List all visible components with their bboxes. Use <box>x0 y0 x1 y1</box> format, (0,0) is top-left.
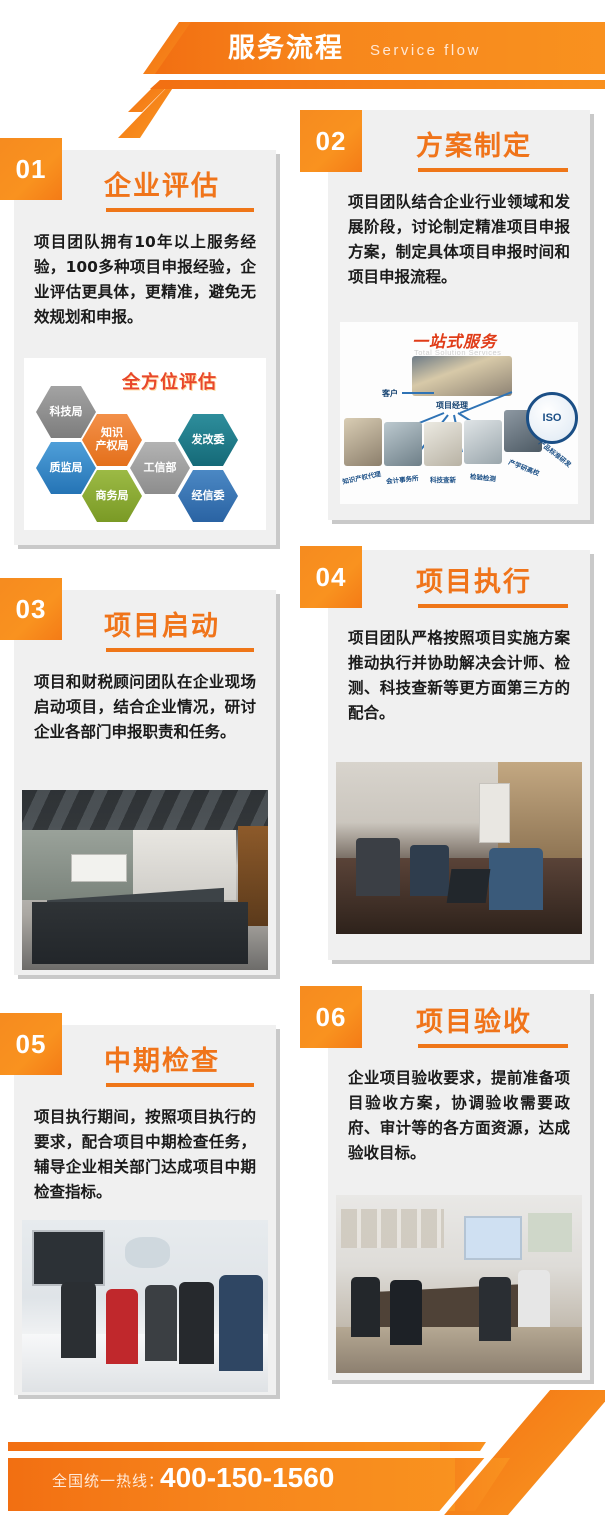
flow-card-01: 01 企业评估 项目团队拥有10年以上服务经验，100多种项目申报经验，企业评估… <box>14 150 276 545</box>
hexagon-gongxinbu: 工信部 <box>130 442 190 494</box>
infographic-title: 全方位评估 <box>122 368 217 394</box>
diagram-label-university: 产学研高校 <box>507 456 541 477</box>
card-title-03: 项目启动 <box>104 604 220 643</box>
hexagon-label: 科技局 <box>50 406 83 419</box>
diagram-photo-accounting <box>384 422 422 466</box>
footer-thin-line <box>8 1442 448 1451</box>
title-underline-06 <box>418 1044 568 1048</box>
card-body-05: 项目执行期间，按照项目执行的要求，配合项目中期检查任务，辅导企业相关部门达成项目… <box>34 1105 256 1205</box>
diagram-arrow-1 <box>402 392 434 394</box>
diagram-photo-testing <box>464 420 502 464</box>
flow-card-05: 05 中期检查 项目执行期间，按照项目执行的要求，配合项目中期检查任务，辅导企业… <box>14 1025 276 1395</box>
hexagon-jingxinwei: 经信委 <box>178 470 238 522</box>
onestop-service-diagram: 一站式服务 Total Solution Services 客户 项目经理 IS… <box>340 322 578 504</box>
hexagon-label: 商务局 <box>96 490 129 503</box>
flow-card-06: 06 项目验收 企业项目验收要求，提前准备项目验收方案，协调验收需要政府、审计等… <box>328 990 590 1380</box>
hotline-label: 全国统一热线： <box>52 1470 164 1491</box>
header-underline <box>150 80 605 89</box>
step-number-badge-06: 06 <box>300 986 362 1048</box>
flow-card-04: 04 项目执行 项目团队严格按照项目实施方案推动执行并协助解决会计师、检测、科技… <box>328 550 590 960</box>
diagram-photo-ip <box>344 418 382 466</box>
title-underline-04 <box>418 604 568 608</box>
diagram-label-testing: 检验检测 <box>470 471 497 484</box>
step-number-badge-05: 05 <box>0 1013 62 1075</box>
diagram-label-search: 科技查新 <box>430 474 456 484</box>
diagram-photo-search <box>424 422 462 466</box>
hexagon-infographic: 全方位评估 科技局 知识 产权局 质监局 商务局 工信部 发改委 经信委 <box>24 358 266 530</box>
hexagon-zhijianju: 质监局 <box>36 442 96 494</box>
page-title: 服务流程 <box>228 30 344 66</box>
diagram-label-ip: 知识产权代理 <box>341 468 381 486</box>
flow-card-03: 03 项目启动 项目和财税顾问团队在企业现场启动项目，结合企业情况，研讨企业各部… <box>14 590 276 975</box>
hotline-phone[interactable]: 400-150-1560 <box>160 1462 334 1494</box>
hexagon-shangwuju: 商务局 <box>82 470 142 522</box>
card-body-03: 项目和财税顾问团队在企业现场启动项目，结合企业情况，研讨企业各部门申报职责和任务… <box>34 670 256 745</box>
hexagon-label: 工信部 <box>144 462 177 475</box>
diagram-label-accounting: 会计事务所 <box>386 472 419 485</box>
diagram-meeting-photo <box>412 356 512 396</box>
page-subtitle: Service flow <box>370 39 481 63</box>
card-photo-04 <box>336 762 582 934</box>
card-photo-05 <box>22 1220 268 1392</box>
hexagon-fagaiwei: 发改委 <box>178 414 238 466</box>
diagram-node-customer: 客户 <box>382 388 398 399</box>
card-body-04: 项目团队严格按照项目实施方案推动执行并协助解决会计师、检测、科技查新等更方面第三… <box>348 626 570 726</box>
card-body-02: 项目团队结合企业行业领域和发展阶段，讨论制定精准项目申报方案，制定具体项目申报时… <box>348 190 570 290</box>
card-title-04: 项目执行 <box>416 560 532 599</box>
card-title-05: 中期检查 <box>104 1039 220 1078</box>
step-number-badge-04: 04 <box>300 546 362 608</box>
hexagon-label: 经信委 <box>192 490 225 503</box>
flow-card-02: 02 方案制定 项目团队结合企业行业领域和发展阶段，讨论制定精准项目申报方案，制… <box>328 110 590 520</box>
card-photo-03 <box>22 790 268 970</box>
hexagon-keji: 科技局 <box>36 386 96 438</box>
step-number-badge-02: 02 <box>300 110 362 172</box>
card-body-01: 项目团队拥有10年以上服务经验，100多种项目申报经验，企业评估更具体，更精准，… <box>34 230 256 330</box>
hexagon-label: 知识 产权局 <box>96 427 129 453</box>
card-photo-06 <box>336 1195 582 1373</box>
page-footer: 全国统一热线： 400-150-1560 <box>0 1428 605 1538</box>
card-title-01: 企业评估 <box>104 164 220 203</box>
title-underline-03 <box>106 648 254 652</box>
card-title-06: 项目验收 <box>416 1000 532 1039</box>
card-body-06: 企业项目验收要求，提前准备项目验收方案，协调验收需要政府、审计等的各方面资源，达… <box>348 1066 570 1166</box>
title-underline-02 <box>418 168 568 172</box>
hexagon-label: 质监局 <box>50 462 83 475</box>
iso-seal-icon: ISO <box>526 392 578 444</box>
footer-thin-line-corner <box>440 1442 486 1451</box>
hexagon-zhishichanquan: 知识 产权局 <box>82 414 142 466</box>
hexagon-label: 发改委 <box>192 434 225 447</box>
service-flow-poster: 服务流程 Service flow 01 企业评估 项目团队拥有10年以上服务经… <box>0 0 605 1538</box>
title-underline-05 <box>106 1083 254 1087</box>
step-number-badge-01: 01 <box>0 138 62 200</box>
card-title-02: 方案制定 <box>416 124 532 163</box>
page-header: 服务流程 Service flow <box>0 0 605 108</box>
title-underline-01 <box>106 208 254 212</box>
step-number-badge-03: 03 <box>0 578 62 640</box>
